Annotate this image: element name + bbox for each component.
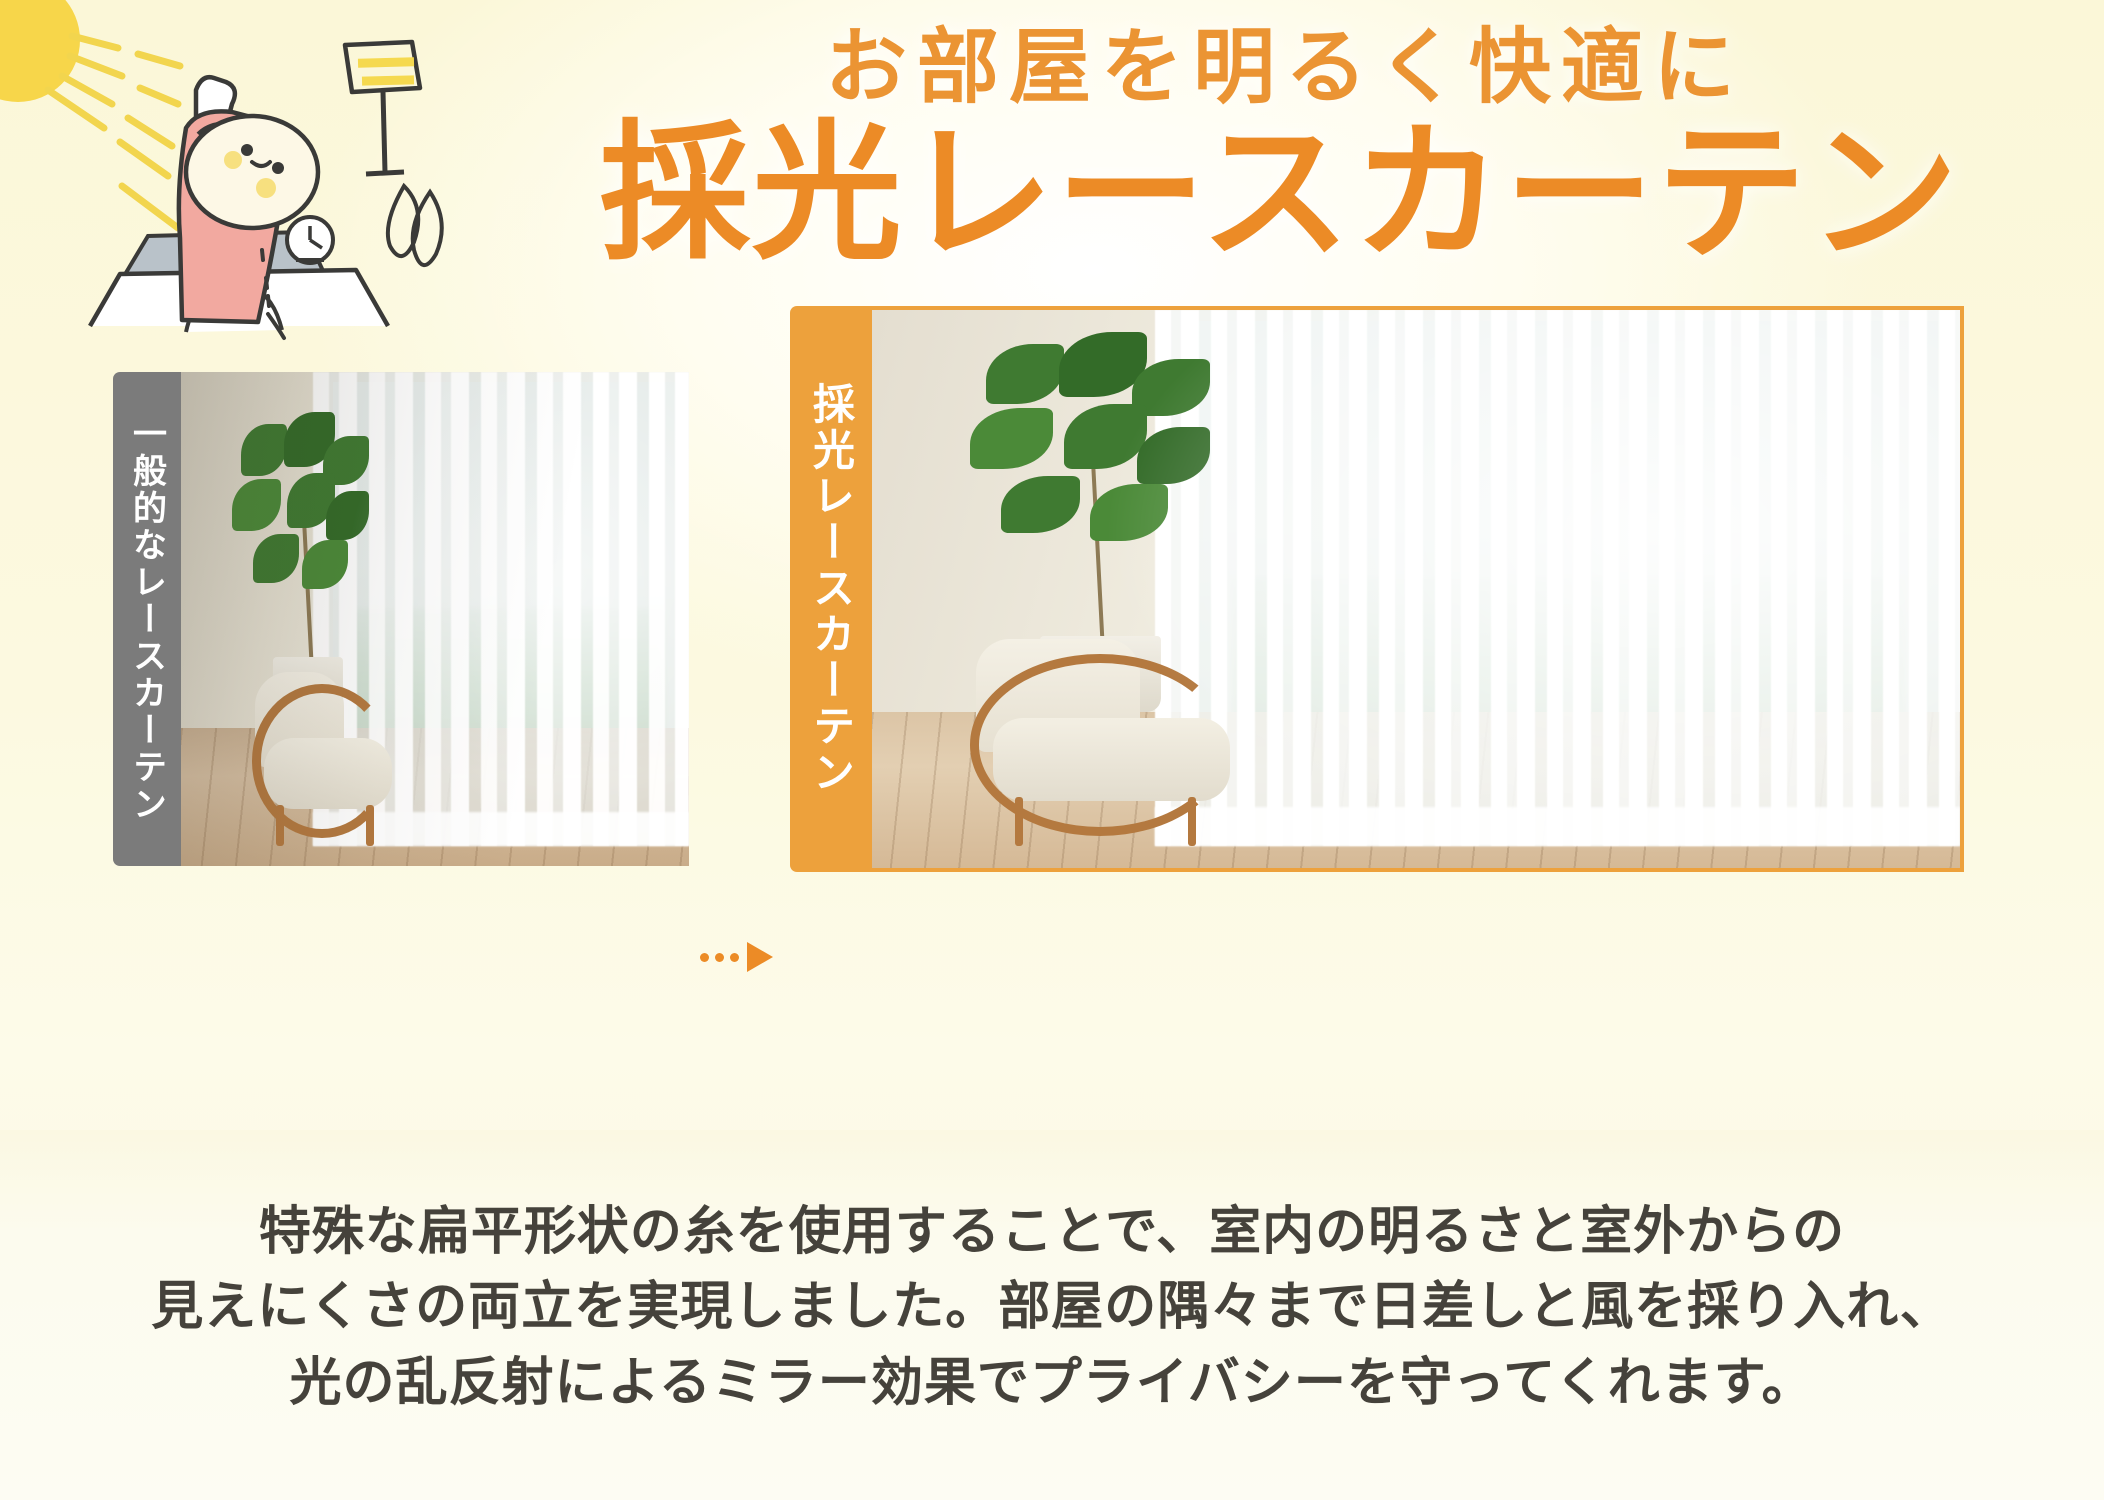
armchair-decor: [252, 639, 404, 846]
arrow-right-icon: [700, 940, 780, 974]
label-saiko-lace-curtain: 採光レースカーテン: [790, 306, 872, 872]
comparison-panel-after: 採光レースカーテン: [790, 306, 1964, 872]
description-line-3: 光の乱反射によるミラー効果でプライバシーを守ってくれます。: [0, 1346, 2104, 1421]
headline-group: お部屋を明るく快適に 採光レースカーテン: [480, 26, 2080, 271]
label-general-lace-curtain: 一般的なレースカーテン: [113, 372, 181, 866]
description-line-1: 特殊な扁平形状の糸を使用することで、室内の明るさと室外からの: [0, 1195, 2104, 1270]
photo-saiko-lace-curtain: [872, 306, 1964, 872]
comparison-panel-before: 一般的なレースカーテン: [113, 372, 689, 866]
armchair-decor: [970, 600, 1253, 846]
wake-up-illustration: [0, 0, 470, 360]
decorative-squiggle-icon: [388, 186, 442, 265]
sun-icon: [0, 0, 80, 102]
lamp-light-bands: [358, 57, 414, 85]
comparison-section: 一般的なレースカーテン: [0, 372, 2104, 872]
description-line-2: 見えにくさの両立を実現しました。部屋の隅々まで日差しと風を採り入れ、: [0, 1270, 2104, 1345]
page-title: 採光レースカーテン: [480, 118, 2080, 271]
description-text: 特殊な扁平形状の糸を使用することで、室内の明るさと室外からの 見えにくさの両立を…: [0, 1195, 2104, 1421]
sub-headline: お部屋を明るく快適に: [480, 26, 2080, 110]
photo-general-lace-curtain: [181, 372, 689, 866]
alarm-clock-icon: [287, 217, 333, 263]
